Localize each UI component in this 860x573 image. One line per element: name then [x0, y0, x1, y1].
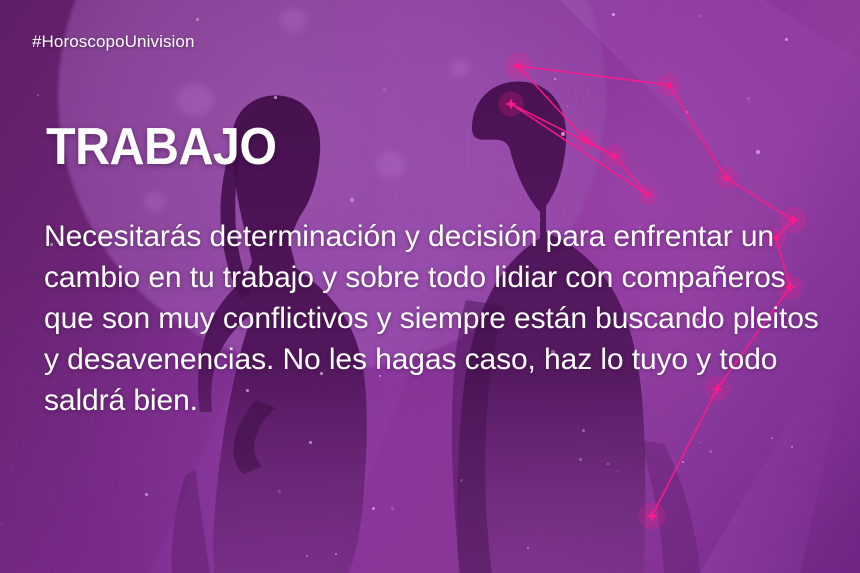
text-content: #HoroscopoUnivision TRABAJO Necesitarás … — [0, 0, 860, 573]
horoscope-card: #HoroscopoUnivision TRABAJO Necesitarás … — [0, 0, 860, 573]
page-title: TRABAJO — [46, 121, 276, 173]
hashtag-label: #HoroscopoUnivision — [32, 32, 195, 52]
horoscope-body-text: Necesitarás determinación y decisión par… — [44, 216, 834, 421]
